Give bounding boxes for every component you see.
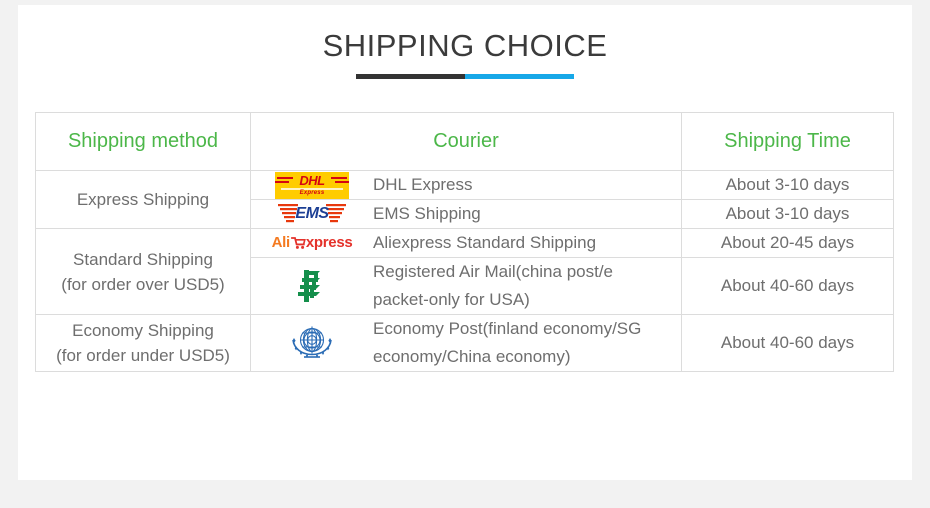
shipping-time: About 20-45 days <box>682 229 894 258</box>
shipping-options-table: Shipping method Courier Shipping Time Ex… <box>35 112 894 372</box>
shipping-method-express: Express Shipping <box>36 171 251 229</box>
table-row: Express Shipping DHL Expre <box>36 171 894 200</box>
shipping-time: About 40-60 days <box>682 315 894 372</box>
shipping-method-standard: Standard Shipping (for order over USD5) <box>36 229 251 315</box>
title-underline-dark-segment <box>356 74 465 79</box>
shopping-cart-icon <box>291 236 306 250</box>
shipping-method-economy: Economy Shipping (for order under USD5) <box>36 315 251 372</box>
courier-cell-dhl: DHL Express DHL Express <box>251 171 682 200</box>
column-header-shipping-method: Shipping method <box>36 113 251 171</box>
united-nations-emblem-icon <box>289 320 335 366</box>
method-line: Express Shipping <box>36 187 250 212</box>
shipping-choice-card: SHIPPING CHOICE Shipping method Courier … <box>18 5 912 480</box>
method-line-note: (for order over USD5) <box>36 272 250 297</box>
method-line: Standard Shipping <box>36 247 250 272</box>
courier-cell-china-post: Registered Air Mail(china post/e packet-… <box>251 258 682 315</box>
courier-name: Registered Air Mail(china post/e packet-… <box>373 258 681 314</box>
aliexpress-logo-xpress: xpress <box>306 235 353 251</box>
courier-name: Aliexpress Standard Shipping <box>373 229 604 257</box>
shipping-time: About 3-10 days <box>682 200 894 229</box>
courier-cell-aliexpress: Ali xpress <box>251 229 682 258</box>
china-post-emblem-icon <box>292 266 332 306</box>
ems-logo: EMS <box>251 200 373 228</box>
title-underline <box>356 74 574 79</box>
table-row: Economy Shipping (for order under USD5) <box>36 315 894 372</box>
shipping-time: About 40-60 days <box>682 258 894 315</box>
method-line: Economy Shipping <box>36 318 250 343</box>
courier-name: DHL Express <box>373 171 481 199</box>
column-header-shipping-time: Shipping Time <box>682 113 894 171</box>
courier-cell-ems: EMS EMS Shipping <box>251 200 682 229</box>
shipping-time: About 3-10 days <box>682 171 894 200</box>
method-line-note: (for order under USD5) <box>36 343 250 368</box>
dhl-logo: DHL Express <box>251 172 373 199</box>
courier-name: EMS Shipping <box>373 200 489 228</box>
table-header-row: Shipping method Courier Shipping Time <box>36 113 894 171</box>
courier-cell-economy-post: Economy Post(finland economy/SG economy/… <box>251 315 682 372</box>
page-title: SHIPPING CHOICE <box>18 27 912 65</box>
aliexpress-logo-ali: Ali <box>272 235 290 251</box>
courier-name: Economy Post(finland economy/SG economy/… <box>373 315 681 371</box>
title-underline-blue-segment <box>465 74 574 79</box>
table-row: Standard Shipping (for order over USD5) … <box>36 229 894 258</box>
aliexpress-logo: Ali xpress <box>251 235 373 251</box>
title-block: SHIPPING CHOICE <box>18 27 912 79</box>
dhl-logo-wordmark: DHL <box>275 174 349 187</box>
china-post-logo <box>251 266 373 306</box>
ems-logo-wordmark: EMS <box>276 205 348 223</box>
dhl-logo-subtext: Express <box>275 190 349 197</box>
united-nations-logo <box>251 320 373 366</box>
column-header-courier: Courier <box>251 113 682 171</box>
